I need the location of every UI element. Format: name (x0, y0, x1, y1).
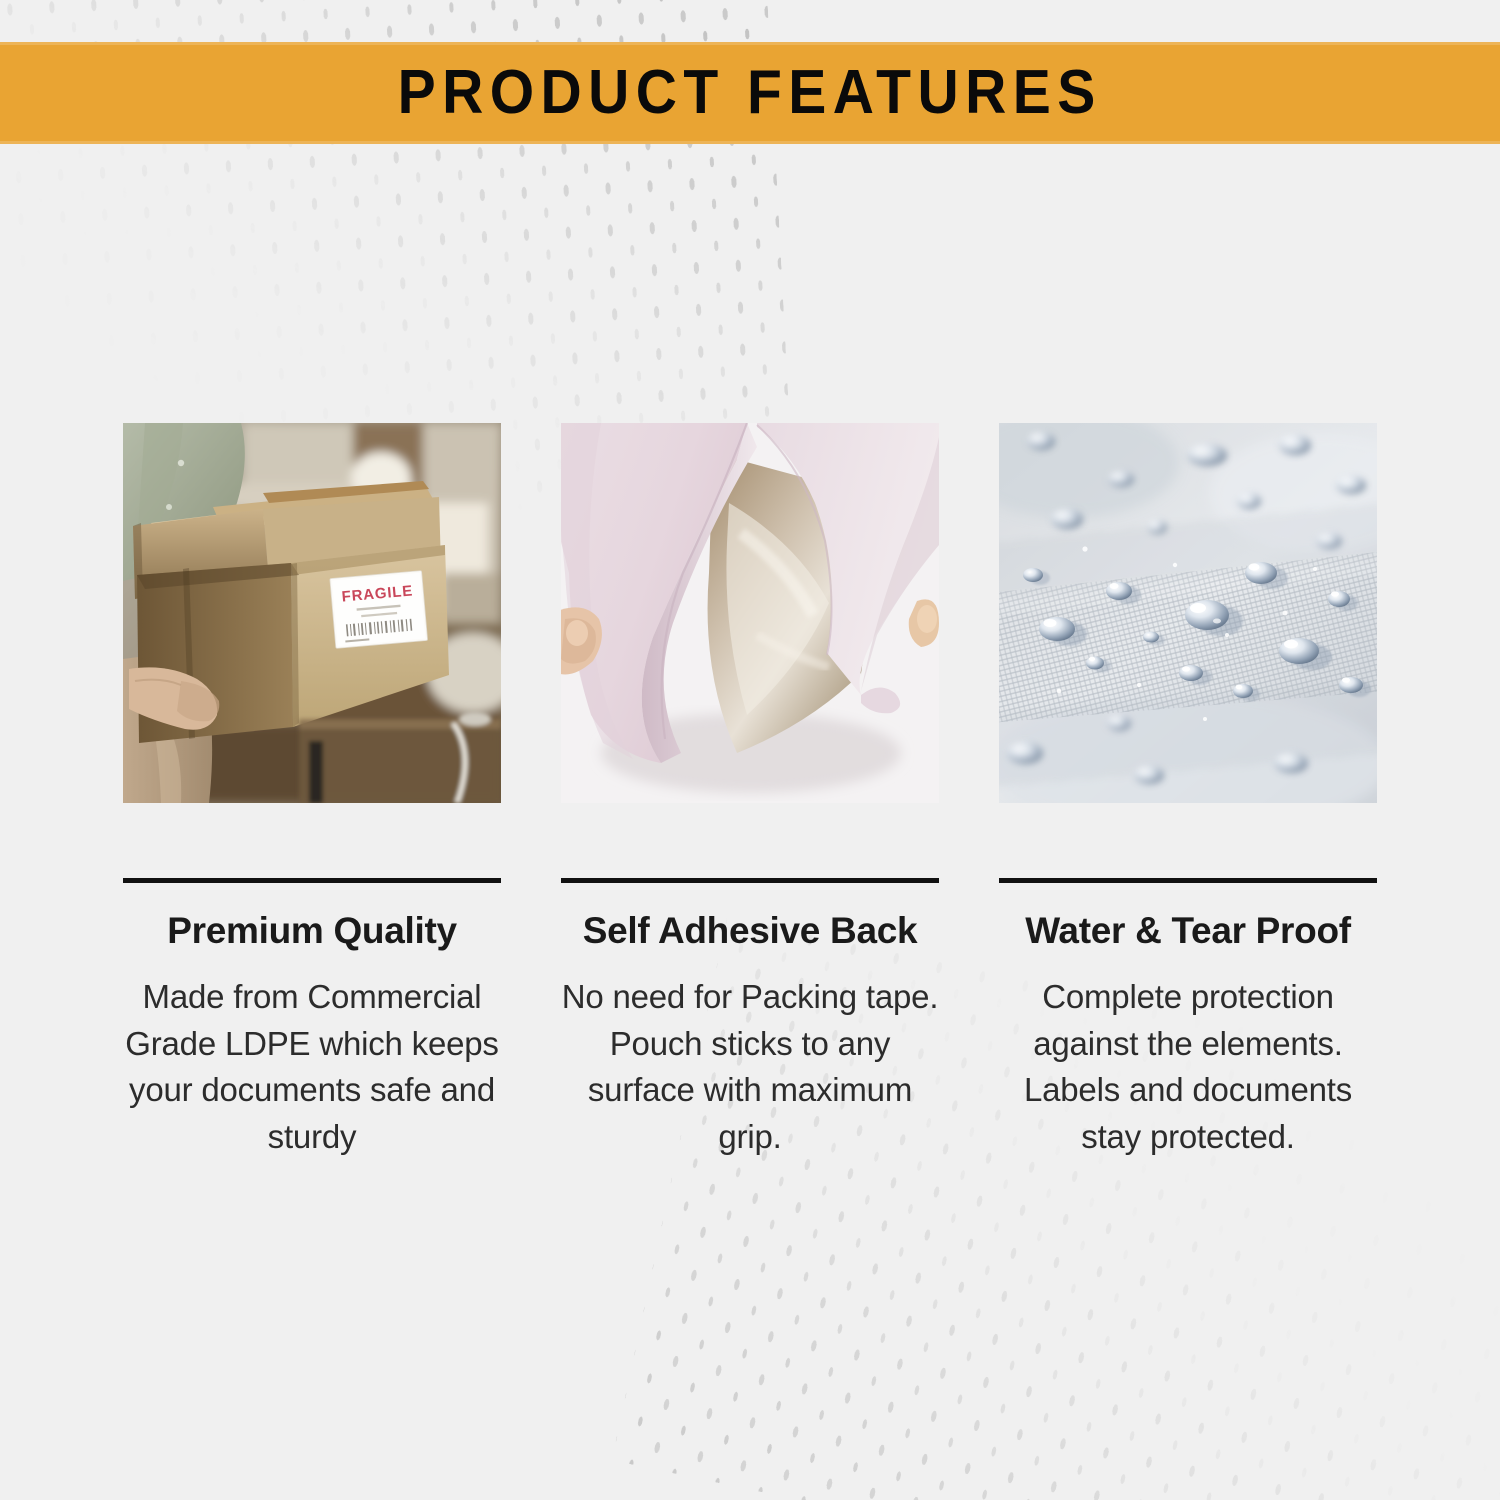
feature-card-premium-quality: FRAGILE (123, 423, 501, 1161)
feature-card-water-tear-proof: Water & Tear Proof Complete protection a… (999, 423, 1377, 1161)
card-divider-rule (999, 878, 1377, 883)
peeling-pink-release-liner-revealing-adhesive-photo (561, 423, 939, 803)
card-divider-rule (123, 878, 501, 883)
card-title: Premium Quality (123, 911, 501, 952)
card-description: No need for Packing tape. Pouch sticks t… (561, 974, 939, 1161)
card-divider-rule (561, 878, 939, 883)
water-droplets-beading-on-woven-fabric-photo (999, 423, 1377, 803)
card-title: Self Adhesive Back (561, 911, 939, 952)
feature-card-self-adhesive-back: Self Adhesive Back No need for Packing t… (561, 423, 939, 1161)
worker-carrying-cardboard-boxes-with-fragile-label-photo: FRAGILE (123, 423, 501, 803)
page-title: PRODUCT FEATURES (398, 62, 1102, 124)
feature-cards-row: FRAGILE (123, 423, 1377, 1161)
card-description: Made from Commercial Grade LDPE which ke… (123, 974, 501, 1161)
header-banner: PRODUCT FEATURES (0, 42, 1500, 144)
card-title: Water & Tear Proof (999, 911, 1377, 952)
card-description: Complete protection against the elements… (999, 974, 1377, 1161)
product-features-infographic: PRODUCT FEATURES (0, 0, 1500, 1500)
